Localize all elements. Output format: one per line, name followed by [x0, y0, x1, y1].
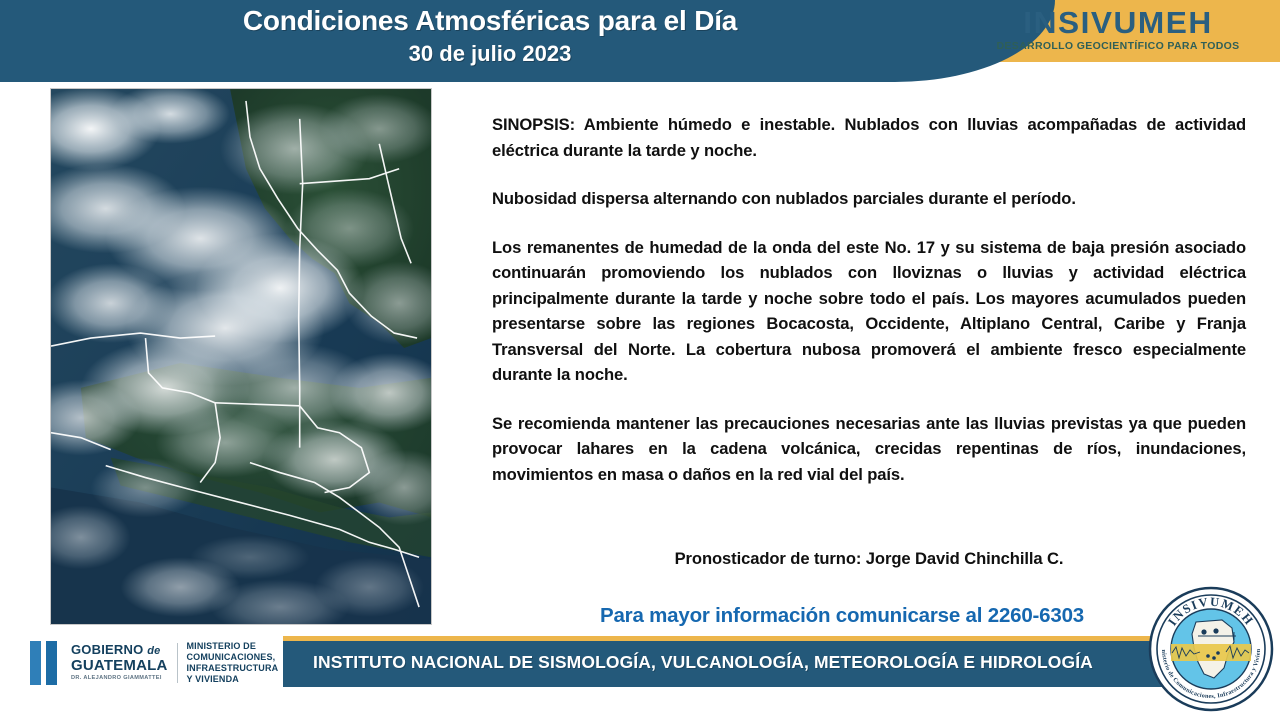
flag-bars-icon: [30, 641, 62, 685]
ministry-line-2: COMUNICACIONES,: [187, 652, 279, 663]
page-header: Condiciones Atmosféricas para el Día 30 …: [0, 0, 1280, 82]
insivumeh-logo-wordmark: INSIVUMEH: [985, 7, 1250, 39]
recommendation-paragraph: Se recomienda mantener las precauciones …: [492, 411, 1246, 488]
insivumeh-seal-graphic: INSIVUMEH Ministerio de Comunicaciones, …: [1148, 586, 1274, 712]
gov-line-1: GOBIERNO de: [71, 643, 168, 658]
footer-banner: INSTITUTO NACIONAL DE SISMOLOGÍA, VULCAN…: [283, 636, 1163, 687]
insivumeh-logo: INSIVUMEH DESARROLLO GEOCIENTÍFICO PARA …: [988, 7, 1248, 53]
header-title-block: Condiciones Atmosféricas para el Día 30 …: [0, 4, 980, 69]
bulletin-date: 30 de julio 2023: [0, 39, 980, 69]
ministry-wordmark: MINISTERIO DE COMUNICACIONES, INFRAESTRU…: [187, 641, 279, 685]
gov-line-2: GUATEMALA: [71, 658, 168, 674]
synopsis-paragraph: SINOPSIS: Ambiente húmedo e inestable. N…: [492, 112, 1246, 163]
ministry-line-4: Y VIVIENDA: [187, 674, 279, 685]
ministry-line-3: INFRAESTRUCTURA: [187, 663, 279, 674]
insivumeh-seal: INSIVUMEH Ministerio de Comunicaciones, …: [1148, 586, 1274, 712]
bulletin-text-panel: SINOPSIS: Ambiente húmedo e inestable. N…: [492, 112, 1246, 487]
government-wordmark: GOBIERNO de GUATEMALA DR. ALEJANDRO GIAM…: [71, 643, 178, 683]
satellite-image-graphic: [51, 89, 431, 624]
gov-gobierno-text: GOBIERNO: [71, 642, 143, 657]
ministry-line-1: MINISTERIO DE: [187, 641, 279, 652]
gov-de-text: de: [147, 645, 160, 657]
government-logo: GOBIERNO de GUATEMALA DR. ALEJANDRO GIAM…: [30, 636, 280, 690]
satellite-image: [50, 88, 432, 625]
forecast-detail-paragraph: Los remanentes de humedad de la onda del…: [492, 235, 1246, 388]
institute-full-name: INSTITUTO NACIONAL DE SISMOLOGÍA, VULCAN…: [313, 652, 1093, 673]
cloudiness-paragraph: Nubosidad dispersa alternando con nublad…: [492, 186, 1246, 212]
forecaster-on-duty: Pronosticador de turno: Jorge David Chin…: [492, 549, 1246, 569]
page-title: Condiciones Atmosféricas para el Día: [0, 4, 980, 38]
insivumeh-logo-tagline: DESARROLLO GEOCIENTÍFICO PARA TODOS: [988, 40, 1248, 53]
gov-line-3: DR. ALEJANDRO GIAMMATTEI: [71, 674, 168, 683]
contact-info[interactable]: Para mayor información comunicarse al 22…: [492, 604, 1192, 628]
